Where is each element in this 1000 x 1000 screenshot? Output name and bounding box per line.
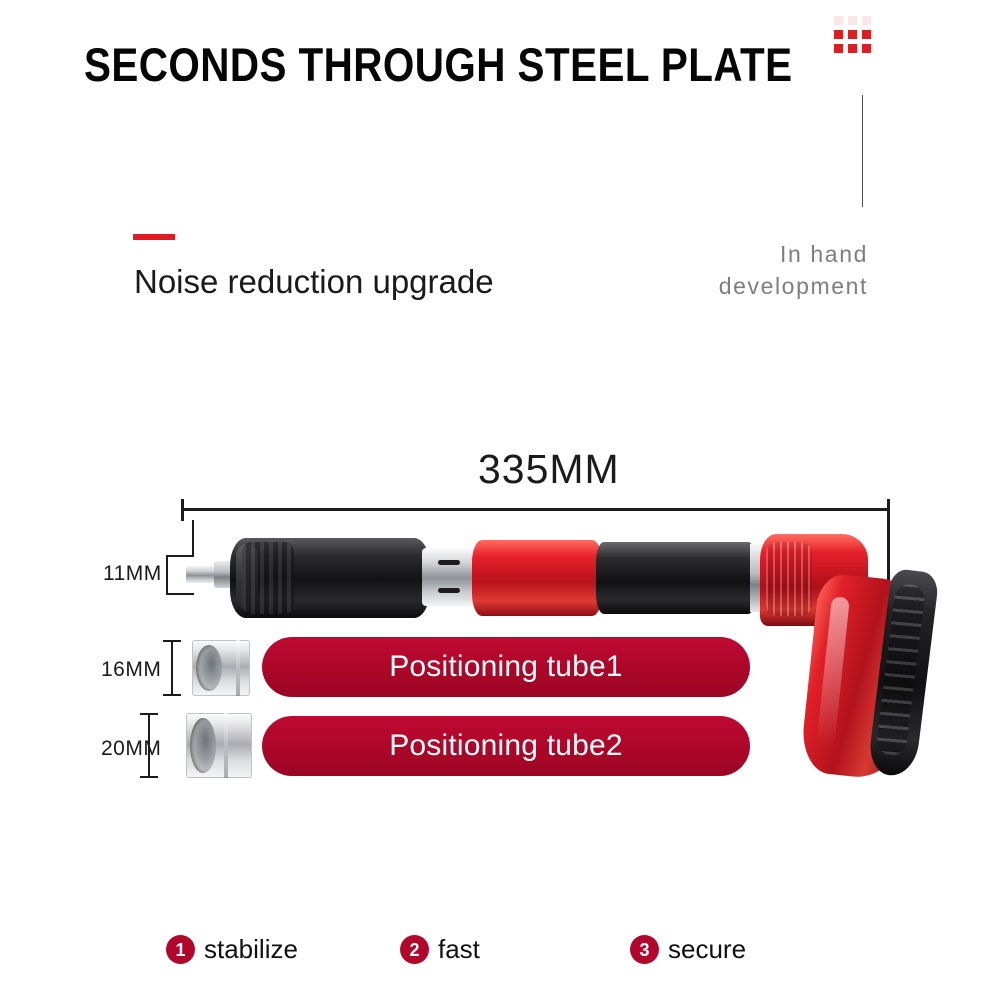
subhead-title: Noise reduction upgrade xyxy=(134,263,494,301)
feature-label-2: fast xyxy=(438,934,480,965)
feature-label-1: stabilize xyxy=(204,934,298,965)
dim11-cap-top xyxy=(166,555,194,557)
in-hand-line-2: development xyxy=(548,270,868,302)
positioning-tube1-banner[interactable]: Positioning tube1 xyxy=(262,637,750,697)
chrome-slot-lower xyxy=(438,588,460,593)
feature-item-1: 1 stabilize xyxy=(166,934,298,965)
positioning-tube2-label: Positioning tube2 xyxy=(389,729,623,763)
feature-label-3: secure xyxy=(668,934,746,965)
overall-length-label: 335MM xyxy=(478,446,620,493)
body-black-section xyxy=(596,542,756,614)
dimension-label-16mm: 16MM xyxy=(101,658,161,682)
overall-length-dimension-line xyxy=(181,508,890,511)
grip-head-ribs xyxy=(766,542,812,616)
feature-item-2: 2 fast xyxy=(400,934,480,965)
chrome-slot-upper xyxy=(438,560,460,565)
feature-badge-3: 3 xyxy=(630,935,659,964)
feature-badge-1: 1 xyxy=(166,935,195,964)
dim11-stem xyxy=(166,555,168,595)
positioning-tube1-label: Positioning tube1 xyxy=(389,650,623,684)
in-hand-development-note: In hand development xyxy=(548,238,868,302)
barrel-knurling xyxy=(242,542,294,614)
positioning-tube2-banner[interactable]: Positioning tube2 xyxy=(262,716,750,776)
red-square-grid-ghost-icon xyxy=(834,16,871,25)
dim20-bracket xyxy=(140,713,158,778)
body-red-section xyxy=(472,540,602,616)
red-dash-icon xyxy=(133,234,175,240)
in-hand-line-1: In hand xyxy=(548,238,868,270)
product-infographic-page: SECONDS THROUGH STEEL PLATE Noise reduct… xyxy=(0,0,1000,1000)
feature-badge-2: 2 xyxy=(400,935,429,964)
feature-item-3: 3 secure xyxy=(630,934,746,965)
header-vertical-rule xyxy=(862,95,863,207)
page-title: SECONDS THROUGH STEEL PLATE xyxy=(84,37,793,92)
red-square-grid-icon xyxy=(834,30,871,53)
positioning-tube1-image xyxy=(192,640,250,696)
positioning-tube2-image xyxy=(186,713,252,778)
dim11-cap-bottom xyxy=(166,593,194,595)
dim16-bracket xyxy=(163,640,181,696)
dim11-riser xyxy=(192,520,194,556)
dimension-label-11mm: 11MM xyxy=(103,562,162,586)
